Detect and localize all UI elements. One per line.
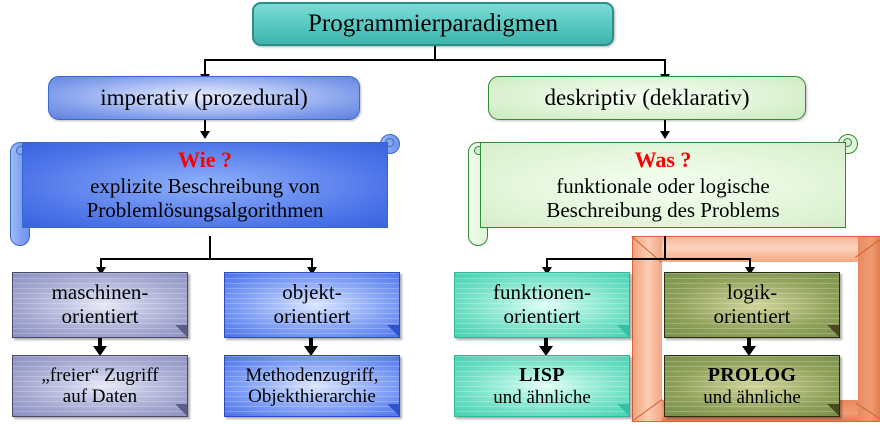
scroll-question: Was ? bbox=[635, 147, 692, 173]
node-line-2: auf Daten bbox=[63, 386, 137, 407]
node-line-1: Methodenzugriff, bbox=[245, 365, 378, 386]
scroll-question: Wie ? bbox=[178, 147, 232, 173]
node-line-2: orientiert bbox=[714, 305, 791, 329]
scroll-body: Wie ? explizite Beschreibung von Problem… bbox=[22, 142, 388, 228]
node-line-2: Objekthierarchie bbox=[248, 386, 376, 407]
node-line-1: objekt- bbox=[282, 281, 341, 305]
node-maschinen-orientiert[interactable]: maschinen- orientiert bbox=[12, 272, 188, 338]
node-language-name: PROLOG bbox=[708, 364, 796, 387]
node-line-1: logik- bbox=[727, 281, 777, 305]
node-objekt-orientiert[interactable]: objekt- orientiert bbox=[224, 272, 400, 338]
scroll-line-1: funktionale oder logische bbox=[556, 174, 769, 199]
node-logik-orientiert[interactable]: logik- orientiert bbox=[664, 272, 840, 338]
node-line-2: orientiert bbox=[62, 305, 139, 329]
folded-corner-icon bbox=[827, 404, 839, 416]
folded-corner-icon bbox=[387, 325, 399, 337]
node-wie-scroll[interactable]: Wie ? explizite Beschreibung von Problem… bbox=[8, 134, 402, 238]
scroll-line-2: Problemlösungsalgorithmen bbox=[87, 198, 324, 223]
folded-corner-icon bbox=[387, 404, 399, 416]
node-line-2: orientiert bbox=[274, 305, 351, 329]
node-language-sub: und ähnliche bbox=[493, 387, 591, 408]
folded-corner-icon bbox=[175, 325, 187, 337]
node-line-1: „freier“ Zugriff bbox=[41, 365, 158, 386]
node-methodenzugriff[interactable]: Methodenzugriff, Objekthierarchie bbox=[224, 355, 400, 417]
node-lisp[interactable]: LISP und ähnliche bbox=[454, 355, 630, 417]
node-language-sub: und ähnliche bbox=[703, 387, 801, 408]
node-was-scroll[interactable]: Was ? funktionale oder logische Beschrei… bbox=[466, 134, 860, 238]
diagram-canvas: Programmierparadigmen imperativ (prozedu… bbox=[0, 0, 880, 426]
connector-was-bus bbox=[546, 258, 751, 260]
node-language-name: LISP bbox=[519, 364, 565, 387]
node-line-1: funktionen- bbox=[493, 281, 591, 305]
node-deskriptiv[interactable]: deskriptiv (deklarativ) bbox=[488, 76, 806, 120]
scroll-line-2: Beschreibung des Problems bbox=[546, 198, 779, 223]
scroll-body: Was ? funktionale oder logische Beschrei… bbox=[480, 142, 846, 228]
node-line-1: maschinen- bbox=[52, 281, 149, 305]
node-programmierparadigmen[interactable]: Programmierparadigmen bbox=[252, 2, 614, 46]
connector-root-bus bbox=[204, 59, 666, 61]
folded-corner-icon bbox=[617, 404, 629, 416]
connector-was-stem bbox=[664, 236, 666, 260]
node-funktionen-orientiert[interactable]: funktionen- orientiert bbox=[454, 272, 630, 338]
connector-wie-bus bbox=[100, 258, 313, 260]
folded-corner-icon bbox=[827, 325, 839, 337]
folded-corner-icon bbox=[175, 404, 187, 416]
scroll-line-1: explizite Beschreibung von bbox=[90, 174, 320, 199]
node-freier-zugriff[interactable]: „freier“ Zugriff auf Daten bbox=[12, 355, 188, 417]
node-prolog[interactable]: PROLOG und ähnliche bbox=[664, 355, 840, 417]
node-label: deskriptiv (deklarativ) bbox=[544, 85, 749, 111]
node-label: Programmierparadigmen bbox=[308, 10, 558, 38]
node-imperativ[interactable]: imperativ (prozedural) bbox=[48, 76, 360, 120]
connector-wie-stem bbox=[209, 236, 211, 260]
node-line-2: orientiert bbox=[504, 305, 581, 329]
node-label: imperativ (prozedural) bbox=[100, 85, 308, 111]
folded-corner-icon bbox=[617, 325, 629, 337]
